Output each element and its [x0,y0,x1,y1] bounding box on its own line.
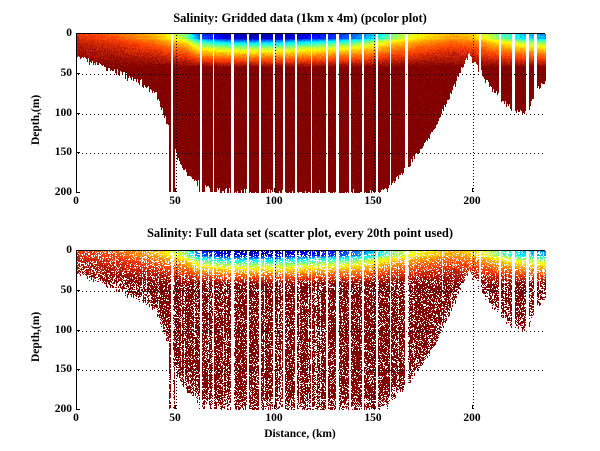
xtick-mark [175,188,176,192]
panel-gridded-ylabel: Depth,(m) [30,94,42,144]
matlab-figure-canvas: Salinity: Gridded data (1km x 4m) (pcolo… [0,0,600,451]
panel-gridded-title: Salinity: Gridded data (1km x 4m) (pcolo… [0,11,600,26]
xtick-label: 0 [73,195,79,207]
ytick-label: 50 [46,67,72,79]
ytick-label: 150 [46,363,72,375]
xtick-mark [175,405,176,409]
xtick-label: 150 [364,412,381,424]
ytick-mark [76,73,80,74]
panel-fulldata-title: Salinity: Full data set (scatter plot, e… [0,226,600,241]
ytick-label: 200 [46,186,72,198]
ytick-label: 0 [46,244,72,256]
xtick-label: 200 [463,412,480,424]
ytick-label: 100 [46,107,72,119]
panel-fulldata-xlabel: Distance, (km) [0,428,600,440]
xtick-label: 150 [364,195,381,207]
ytick-mark [76,33,80,34]
ytick-mark [76,113,80,114]
ytick-mark [76,290,80,291]
xtick-label: 50 [169,412,181,424]
panel-fulldata-axes [76,250,545,409]
xtick-label: 50 [169,195,181,207]
ytick-label: 50 [46,284,72,296]
panel-fulldata-gridlines [77,251,546,410]
ytick-mark [76,330,80,331]
xtick-mark [472,188,473,192]
ytick-mark [76,369,80,370]
ytick-label: 150 [46,146,72,158]
ytick-mark [76,192,80,193]
ytick-mark [76,250,80,251]
panel-gridded-axes [76,33,545,192]
ytick-mark [76,409,80,410]
xtick-label: 100 [265,195,282,207]
xtick-mark [274,188,275,192]
panel-gridded-gridlines [77,34,546,193]
xtick-mark [472,405,473,409]
ytick-label: 100 [46,324,72,336]
ytick-label: 200 [46,403,72,415]
panel-fulldata-ylabel: Depth,(m) [30,311,42,361]
xtick-mark [274,405,275,409]
xtick-label: 200 [463,195,480,207]
xtick-mark [373,405,374,409]
ytick-mark [76,152,80,153]
xtick-label: 0 [73,412,79,424]
ytick-label: 0 [46,27,72,39]
xtick-label: 100 [265,412,282,424]
xtick-mark [373,188,374,192]
